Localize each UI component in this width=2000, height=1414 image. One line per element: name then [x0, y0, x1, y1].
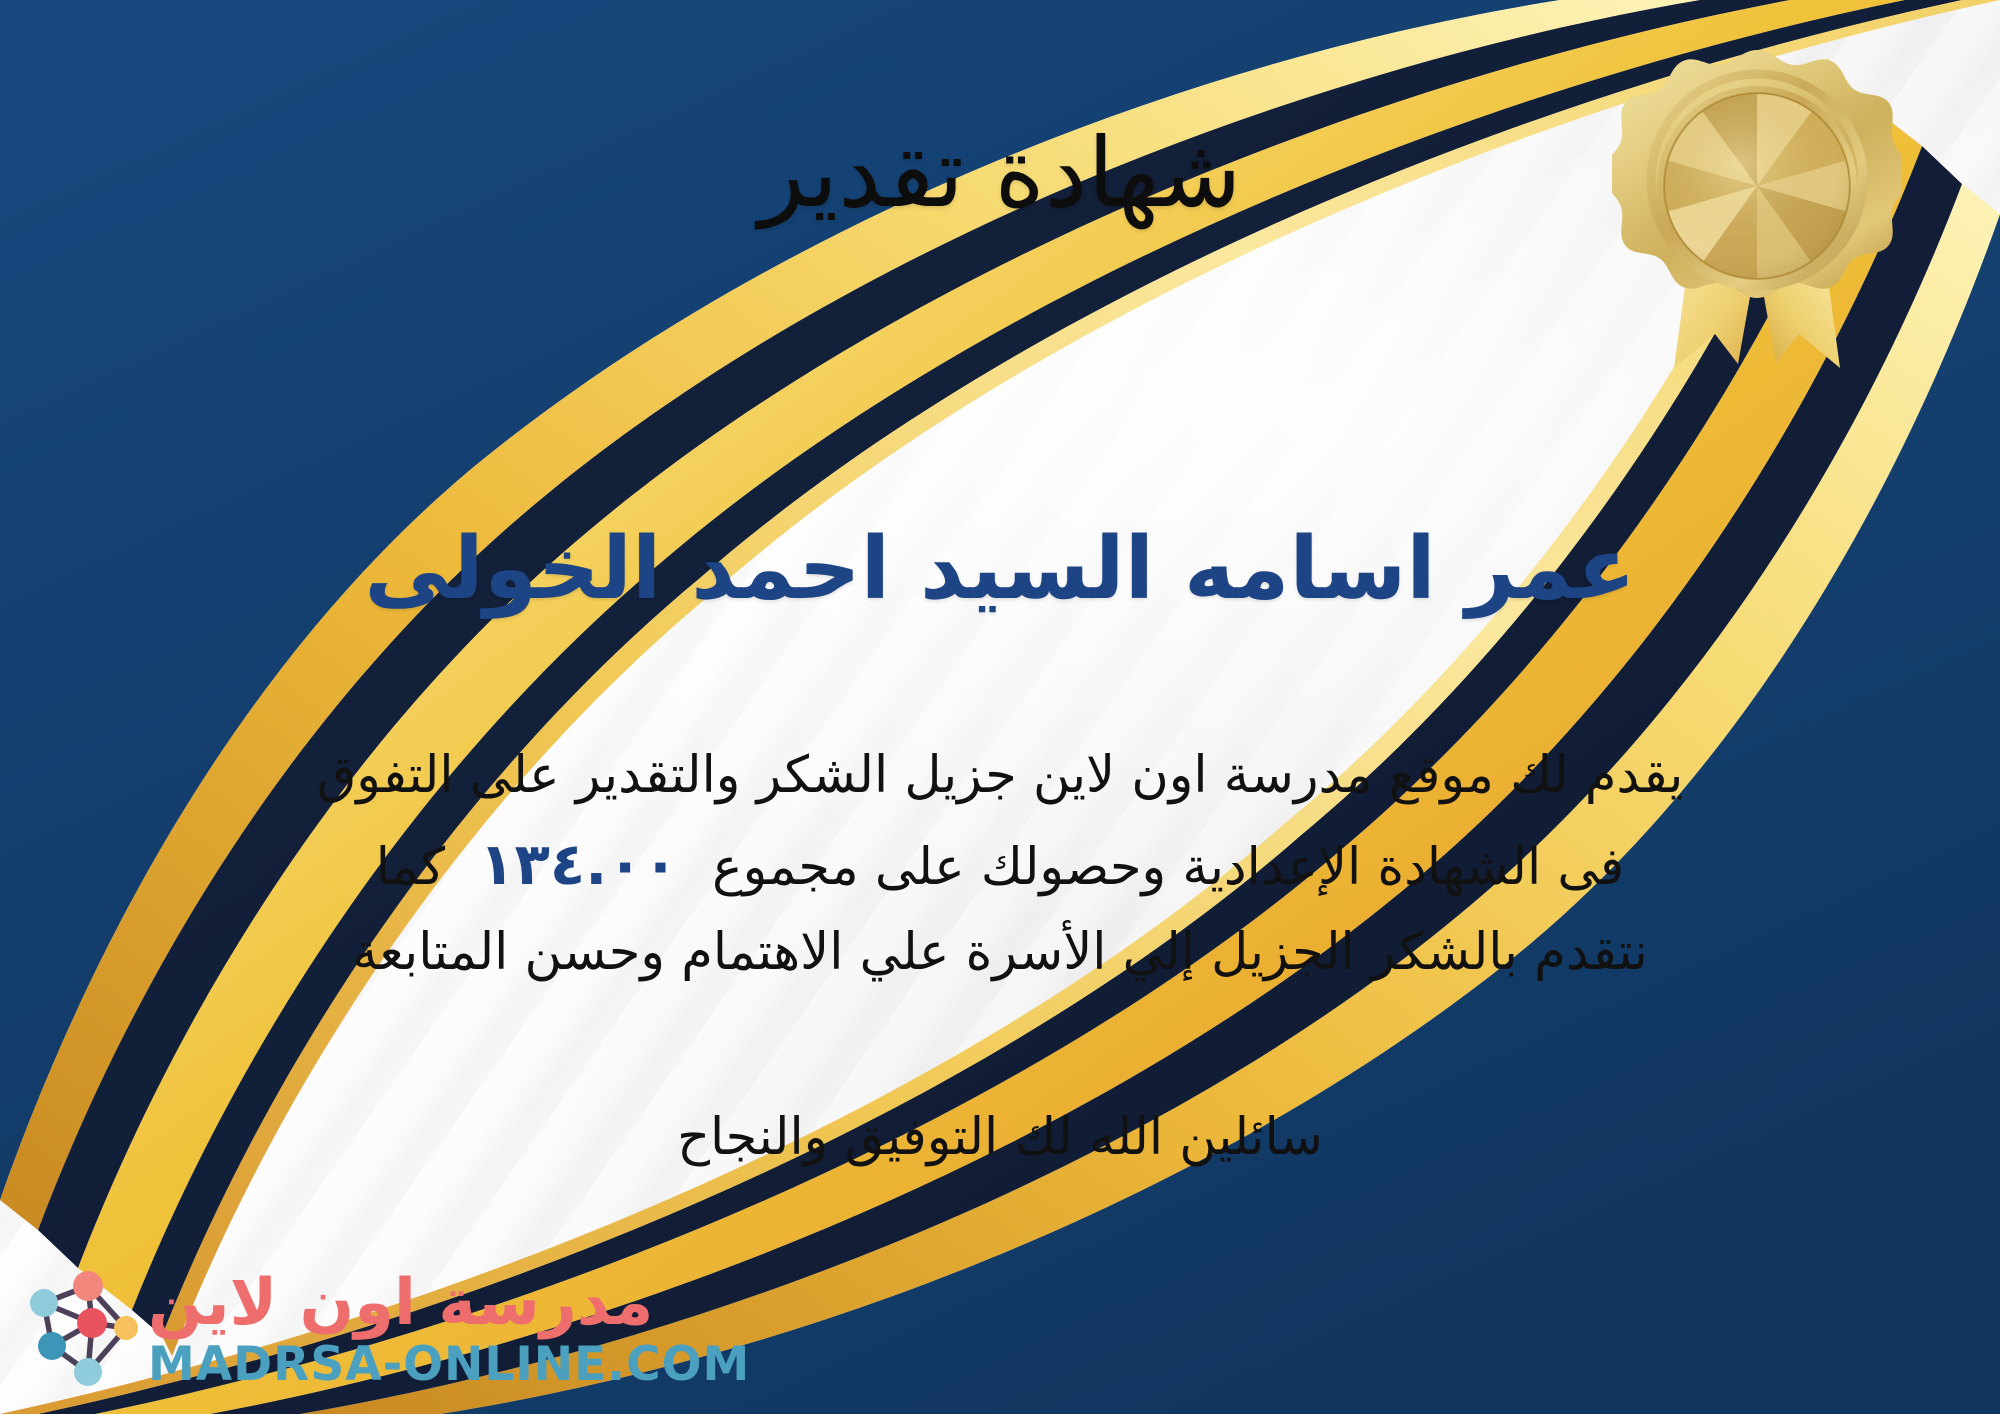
grade-total-value: ١٣٤.٠٠ [445, 830, 712, 898]
body-line-2-prefix: فى الشهادة الإعدادية وحصولك على مجموع [712, 838, 1624, 897]
body-line-2-suffix: كما [376, 838, 445, 897]
body-line-1: يقدم لك موقع مدرسة اون لاين جزيل الشكر و… [60, 735, 1940, 818]
network-nodes-icon [26, 1268, 138, 1390]
certificate-canvas: شهادة تقدير عمر اسامه السيد احمد الخولى … [0, 0, 2000, 1414]
brand-wordmarks: مدرسة اون لاين MADRSA-ONLINE.COM [148, 1271, 750, 1388]
body-line-2: فى الشهادة الإعدادية وحصولك على مجموع١٣٤… [60, 818, 1940, 912]
page-title: شهادة تقدير [0, 118, 2000, 228]
brand-domain-text: MADRSA-ONLINE.COM [148, 1341, 750, 1388]
certificate-body-text: يقدم لك موقع مدرسة اون لاين جزيل الشكر و… [60, 735, 1940, 994]
body-line-3: نتقدم بالشكر الجزيل إلي الأسرة علي الاهت… [60, 912, 1940, 995]
recipient-name: عمر اسامه السيد احمد الخولى [0, 518, 2000, 621]
brand-logo[interactable]: مدرسة اون لاين MADRSA-ONLINE.COM [26, 1268, 750, 1390]
brand-arabic-name: مدرسة اون لاين [148, 1271, 653, 1335]
certificate-content: شهادة تقدير عمر اسامه السيد احمد الخولى … [0, 0, 2000, 1414]
closing-wish-line: سائلين الله لك التوفيق والنجاح [0, 1108, 2000, 1167]
